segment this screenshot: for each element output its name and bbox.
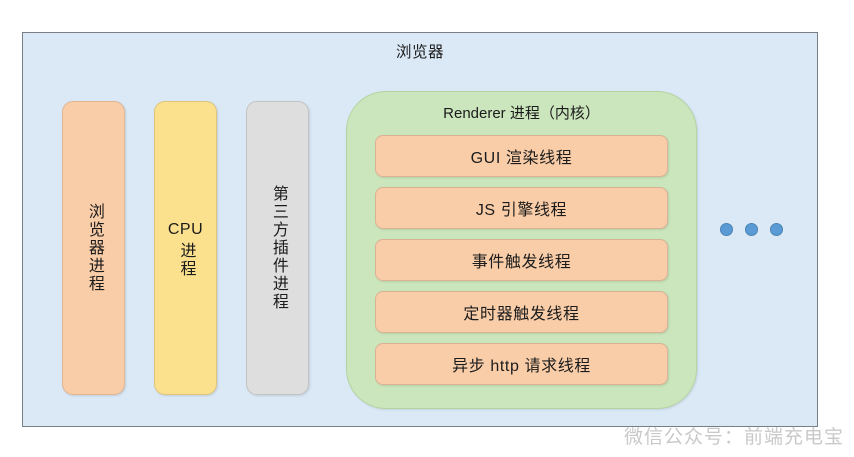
ellipsis-dot-icon: [770, 223, 783, 236]
process-cpu-label-cjk: 进程: [174, 242, 198, 278]
thread-box: 事件触发线程: [375, 239, 668, 281]
process-browser: 浏览器进程: [62, 101, 125, 395]
process-browser-label: 浏览器进程: [81, 203, 106, 293]
process-cpu-label: CPU 进程: [168, 218, 203, 278]
thread-box: GUI 渲染线程: [375, 135, 668, 177]
renderer-process-title: Renderer 进程（内核）: [347, 102, 696, 123]
thread-box: 定时器触发线程: [375, 291, 668, 333]
process-cpu: CPU 进程: [154, 101, 217, 395]
thread-list: GUI 渲染线程 JS 引擎线程 事件触发线程 定时器触发线程 异步 http …: [375, 135, 668, 385]
browser-title: 浏览器: [23, 40, 817, 62]
process-cpu-label-latin: CPU: [168, 218, 203, 242]
watermark-text: 微信公众号：前端充电宝: [624, 422, 844, 449]
ellipsis-dot-icon: [745, 223, 758, 236]
thread-box: 异步 http 请求线程: [375, 343, 668, 385]
more-processes-ellipsis: [720, 223, 783, 236]
thread-box: JS 引擎线程: [375, 187, 668, 229]
process-plugin-label: 第三方插件进程: [265, 185, 290, 311]
browser-container: 浏览器 浏览器进程 CPU 进程 第三方插件进程 Renderer 进程（内核）…: [22, 32, 818, 427]
process-plugin: 第三方插件进程: [246, 101, 309, 395]
ellipsis-dot-icon: [720, 223, 733, 236]
renderer-process-panel: Renderer 进程（内核） GUI 渲染线程 JS 引擎线程 事件触发线程 …: [346, 91, 697, 409]
